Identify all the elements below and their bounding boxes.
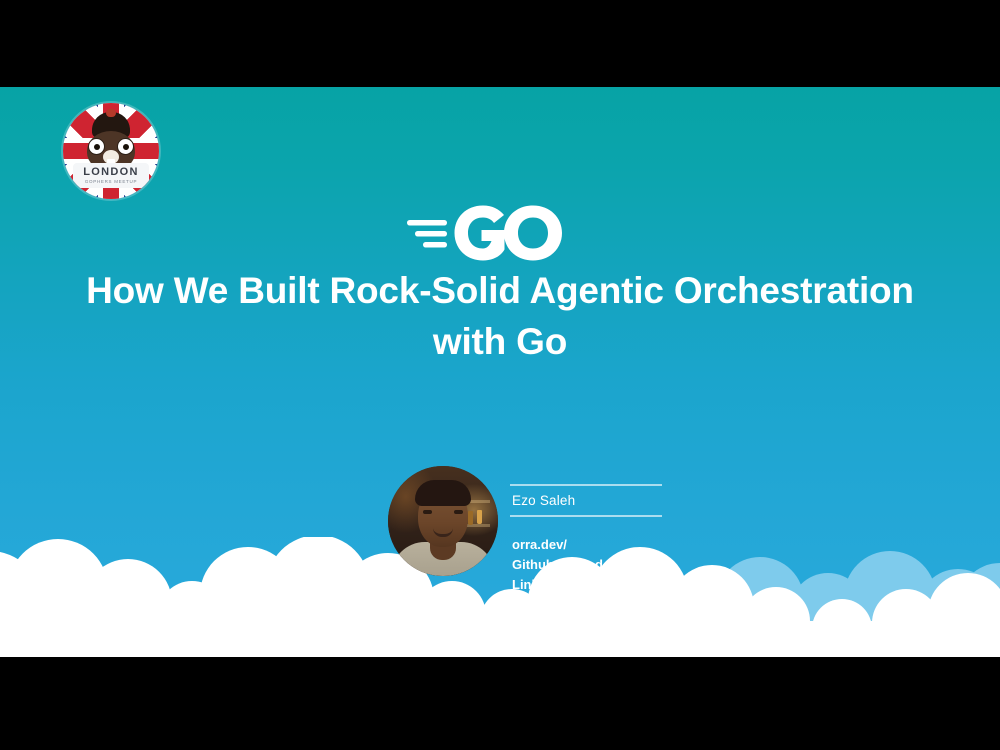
letterbox-bar-bottom (0, 657, 1000, 750)
badge-sub-text: GOPHERS MEETUP (85, 180, 137, 185)
gopher-eye-left (88, 138, 105, 155)
gopher-eye-right (117, 138, 134, 155)
speaker-links: orra.dev/ Github - orra-dev Linkedin - e… (510, 535, 685, 594)
badge-main-text: LONDON (83, 167, 138, 178)
speaker-name: Ezo Saleh (510, 486, 685, 515)
avatar-bottle (468, 511, 473, 525)
speaker-link-website[interactable]: orra.dev/ (512, 535, 685, 555)
badge-ribbon: LONDON GOPHERS MEETUP (73, 163, 149, 188)
go-speed-lines (407, 220, 447, 248)
go-wordmark (455, 206, 563, 261)
divider-bottom (510, 515, 662, 517)
avatar-eye-left (423, 510, 432, 514)
presentation-slide: LONDON GOPHERS MEETUP How We Built Rock-… (0, 87, 1000, 657)
slide-title: How We Built Rock-Solid Agentic Orchestr… (50, 265, 950, 367)
avatar-bottle (477, 510, 482, 524)
london-gophers-logo: LONDON GOPHERS MEETUP (63, 103, 159, 199)
speaker-block: Ezo Saleh orra.dev/ Github - orra-dev Li… (388, 466, 688, 606)
video-player-frame: LONDON GOPHERS MEETUP How We Built Rock-… (0, 0, 1000, 750)
letterbox-bar-top (0, 0, 1000, 87)
avatar-eye-right (454, 510, 463, 514)
speaker-avatar (388, 466, 498, 576)
speaker-link-linkedin[interactable]: Linkedin - ezosaleh (512, 575, 685, 595)
speaker-details: Ezo Saleh orra.dev/ Github - orra-dev Li… (510, 484, 685, 594)
go-logo (405, 200, 565, 266)
avatar-hair (415, 480, 471, 506)
speaker-link-github[interactable]: Github - orra-dev (512, 555, 685, 575)
